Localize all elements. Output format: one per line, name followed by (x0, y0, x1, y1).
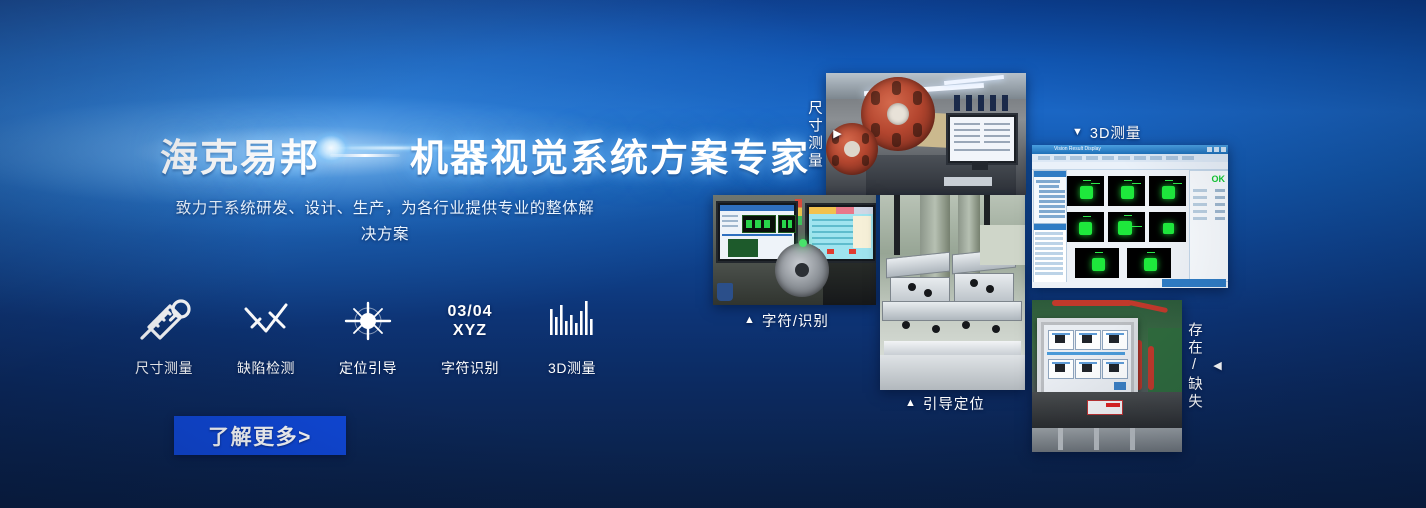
window-result-panel: OK (1189, 170, 1228, 282)
inspection-panel (1149, 212, 1186, 242)
caption-guidance-positioning: ▲ 引导定位 (905, 393, 985, 414)
caption-text: 字符/识别 (762, 310, 829, 331)
learn-more-label: 了解更多> (208, 421, 312, 451)
inspection-panel-grid (1067, 170, 1187, 280)
feature-3d-measurement[interactable]: 3D测量 (526, 292, 618, 378)
feature-label: 尺寸测量 (118, 358, 210, 378)
caption-character-recognition: ▲ 字符/识别 (744, 310, 829, 331)
feature-label: 3D测量 (526, 358, 618, 378)
photo-collage: ▶ 尺寸测量 (700, 0, 1426, 508)
inspection-panel (1108, 212, 1145, 242)
inspection-panel (1149, 176, 1186, 206)
caption-text: 引导定位 (923, 393, 985, 414)
inspection-panel (1067, 176, 1104, 206)
photo-guidance-positioning[interactable] (880, 195, 1025, 390)
feature-icon-row: 尺寸测量 缺陷检测 (118, 292, 618, 392)
defect-x-icon (220, 292, 312, 350)
window-title: Vision Result Display (1054, 146, 1101, 152)
inspection-panel (1075, 248, 1119, 278)
caption-3d-measurement: ▼ 3D测量 (1072, 122, 1141, 143)
caption-text: 3D测量 (1090, 122, 1142, 143)
caption-dimension-measurement: ▶ 尺寸测量 (804, 100, 842, 170)
char-icon-line2: XYZ (447, 321, 492, 340)
triangle-down-icon: ▼ (1072, 127, 1084, 138)
inspection-panel (1108, 176, 1145, 206)
brand-name: 海克易邦 (160, 127, 320, 182)
feature-label: 定位引导 (322, 358, 414, 378)
window-toolbar[interactable] (1032, 162, 1228, 170)
caption-text: 存在/缺失 (1184, 322, 1205, 411)
inspection-panel (1067, 212, 1104, 242)
crosshair-star-icon (322, 292, 414, 350)
photo-character-recognition[interactable] (713, 195, 876, 305)
triangle-left-icon: ◀ (1211, 359, 1222, 375)
character-text-icon: 03/04 XYZ (424, 292, 516, 350)
feature-character-recognition[interactable]: 03/04 XYZ 字符识别 (424, 292, 516, 378)
feature-positioning-guidance[interactable]: 定位引导 (322, 292, 414, 378)
caption-presence-absence: ◀ 存在/缺失 (1184, 322, 1222, 411)
ruler-magnifier-icon (118, 292, 210, 350)
hero-banner: 海克易邦 机器视觉系统方案专家 致力于系统研发、设计、生产，为各行业提供专业的整… (0, 0, 1426, 508)
triangle-up-icon: ▲ (905, 398, 917, 409)
photo-3d-measurement-software[interactable]: Vision Result Display (1032, 145, 1228, 288)
sub-headline: 致力于系统研发、设计、生产，为各行业提供专业的整体解决方案 (170, 196, 600, 248)
window-statusbar (1162, 279, 1226, 287)
triangle-right-icon: ▶ (831, 127, 842, 143)
window-titlebar: Vision Result Display (1032, 145, 1228, 154)
feature-defect-detection[interactable]: 缺陷检测 (220, 292, 312, 378)
photo-presence-absence[interactable] (1032, 300, 1182, 452)
window-tree-panel[interactable] (1033, 170, 1067, 282)
headline-divider (326, 136, 404, 174)
status-ok-badge: OK (1212, 174, 1226, 184)
photo-dimension-measurement[interactable] (826, 73, 1026, 195)
left-content: 海克易邦 机器视觉系统方案专家 致力于系统研发、设计、生产，为各行业提供专业的整… (0, 0, 720, 508)
window-controls[interactable] (1207, 147, 1226, 152)
bar-chart-icon (526, 292, 618, 350)
inspection-panel (1127, 248, 1171, 278)
caption-text: 尺寸测量 (804, 100, 825, 170)
char-icon-line1: 03/04 (447, 302, 492, 321)
feature-label: 缺陷检测 (220, 358, 312, 378)
triangle-up-icon: ▲ (744, 315, 756, 326)
learn-more-button[interactable]: 了解更多> (174, 416, 346, 455)
feature-label: 字符识别 (424, 358, 516, 378)
feature-dimension-measurement[interactable]: 尺寸测量 (118, 292, 210, 378)
